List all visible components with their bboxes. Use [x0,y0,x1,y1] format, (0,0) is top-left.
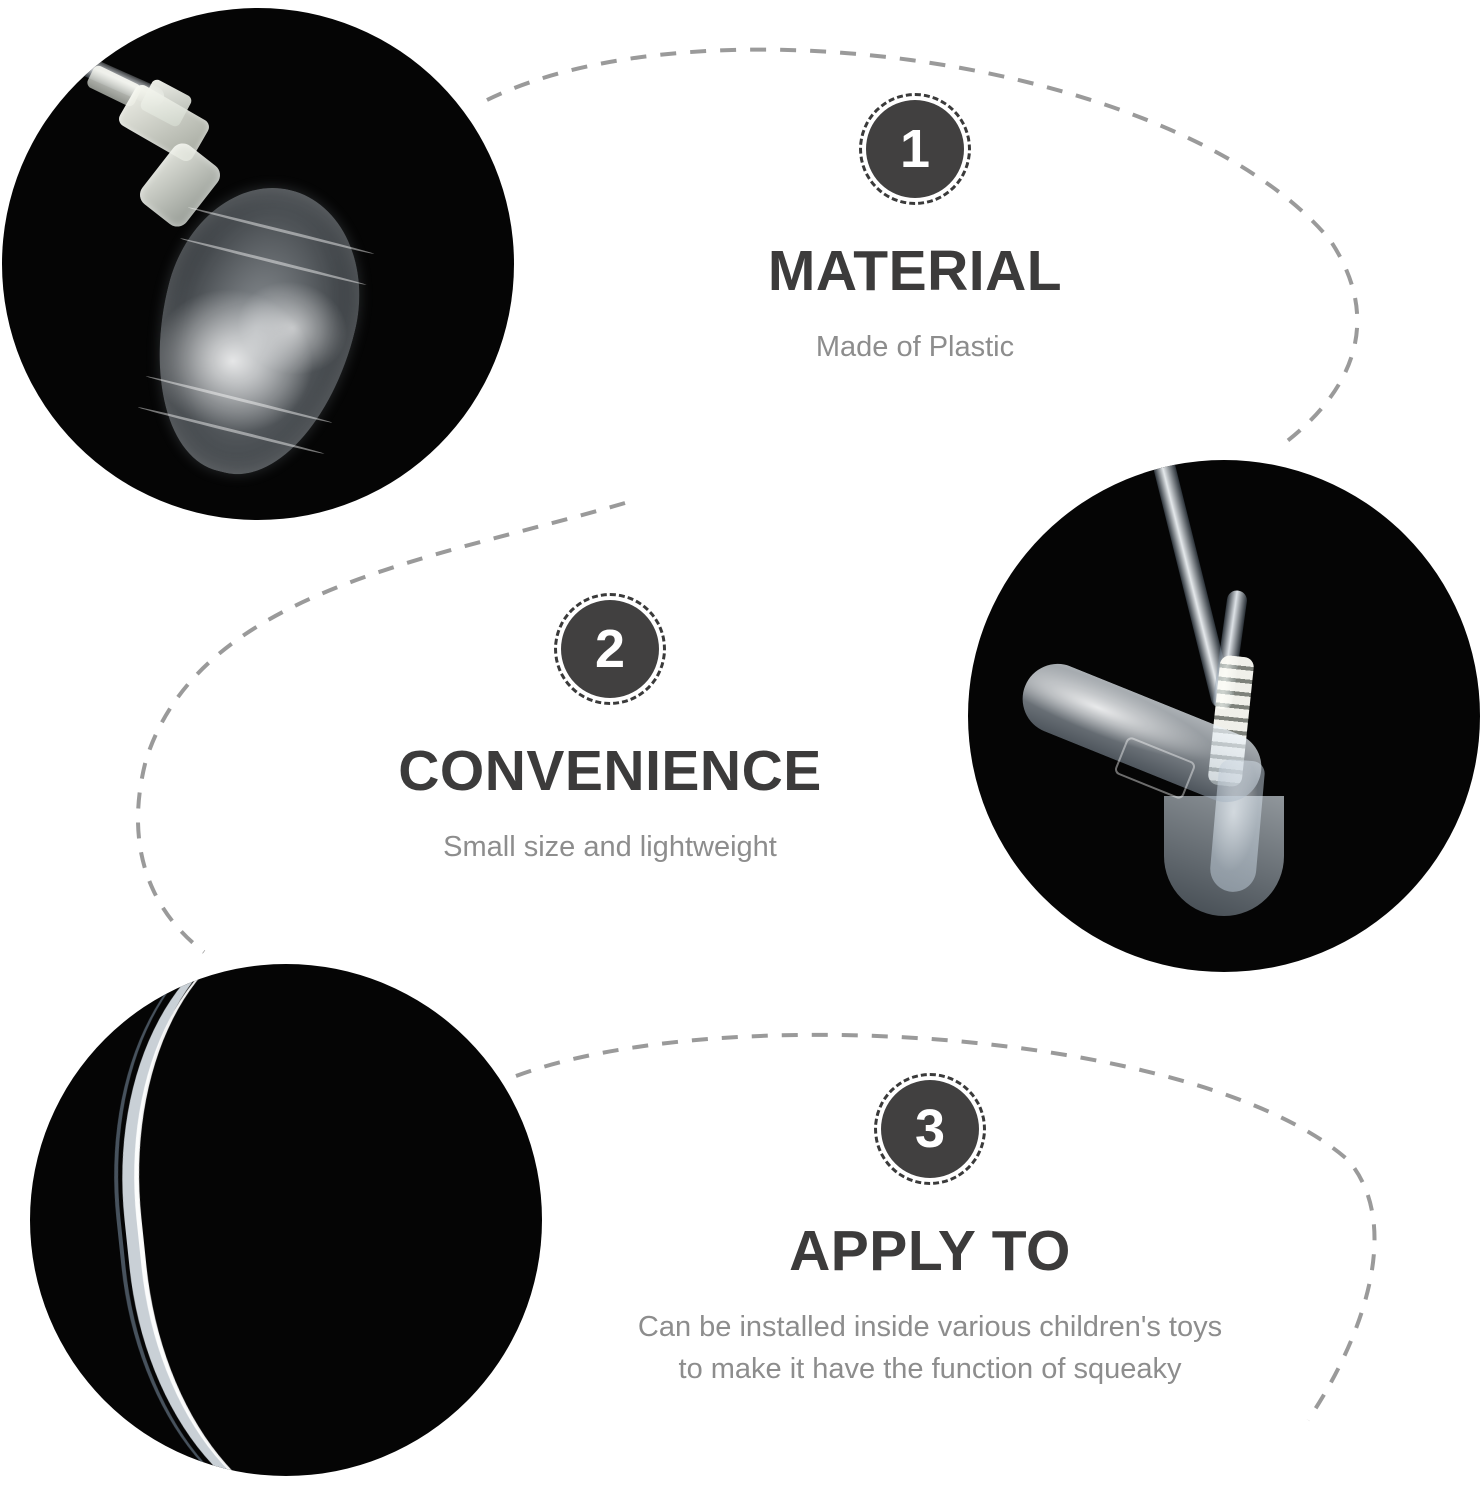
product-photo-squeaker-inner [968,460,1480,972]
step-1-description: Made of Plastic [590,326,1240,368]
step-1-title: MATERIAL [590,242,1240,302]
step-1-number: 1 [900,122,930,176]
step-2-title: CONVENIENCE [285,742,935,802]
step-3-number: 3 [915,1102,945,1156]
step-3-apply-to: 3 APPLY TO Can be installed inside vario… [605,1080,1255,1390]
step-1-material: 1 MATERIAL Made of Plastic [590,100,1240,368]
product-photo-tubing [30,964,542,1476]
product-feature-infographic: 1 MATERIAL Made of Plastic 2 CONVENIENCE… [0,0,1482,1500]
step-2-number-badge: 2 [561,600,659,698]
step-3-number-badge: 3 [881,1080,979,1178]
step-2-convenience: 2 CONVENIENCE Small size and lightweight [285,600,935,868]
step-1-number-badge: 1 [866,100,964,198]
step-3-description: Can be installed inside various children… [605,1306,1255,1390]
step-2-description: Small size and lightweight [285,826,935,868]
product-photo-bulb-inner [2,8,514,520]
squeaker-v-joint [1164,796,1284,916]
step-3-description-line-2: to make it have the function of squeaky [605,1348,1255,1390]
step-2-number: 2 [595,622,625,676]
product-photo-squeaker [968,460,1480,972]
step-3-title: APPLY TO [605,1222,1255,1282]
step-3-description-line-1: Can be installed inside various children… [605,1306,1255,1348]
product-photo-tubing-inner [30,964,542,1476]
product-photo-bulb [2,8,514,520]
